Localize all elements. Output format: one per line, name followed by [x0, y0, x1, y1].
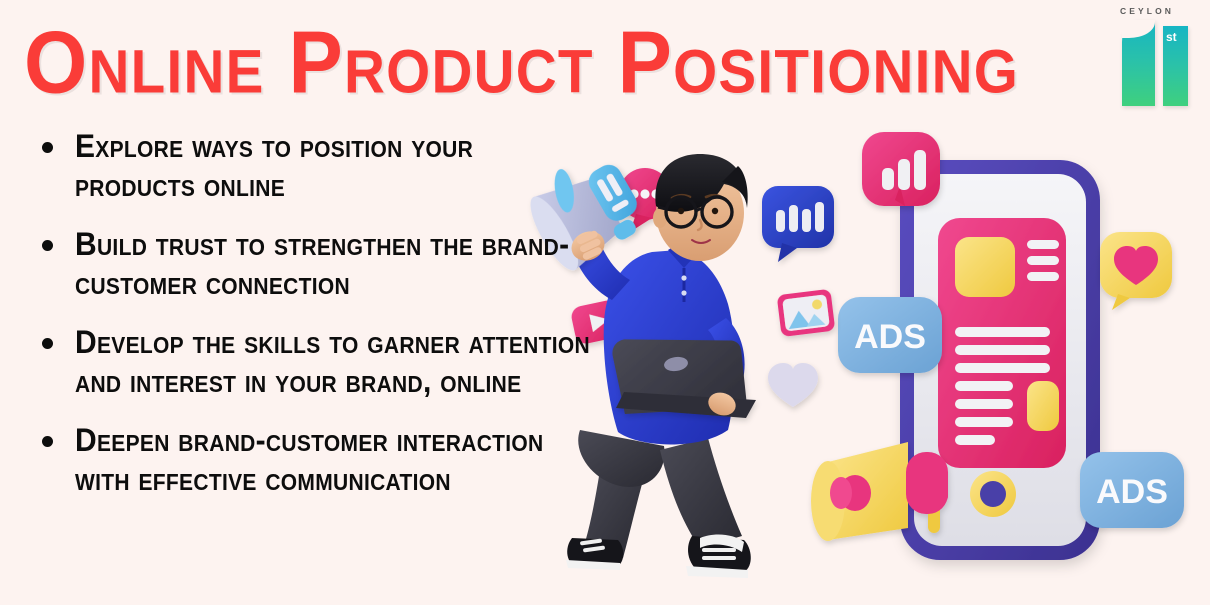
ads-badge-left-label: ADS [854, 318, 926, 356]
bar-chart-bubble-blue [762, 186, 834, 262]
heart-bubble-yellow [1100, 232, 1172, 310]
slide-canvas: ADS ADS [0, 0, 1210, 605]
bullet-dot-icon [42, 240, 53, 251]
logo-ordinal: st [1166, 30, 1177, 44]
bar-chart-bubble-pink [862, 132, 940, 206]
ads-badge-right-label: ADS [1096, 473, 1168, 511]
bullet-text: Develop the skills to garner attention a… [75, 324, 590, 402]
photo-icon [777, 289, 836, 337]
shoe-right [686, 535, 751, 578]
page-title: Online Product Positioning [24, 14, 1019, 110]
bullet-text: Deepen brand-customer interaction with e… [75, 422, 590, 500]
glasses-icon [658, 197, 732, 227]
list-item: Deepen brand-customer interaction with e… [42, 422, 590, 494]
logo-wordmark: CEYLON [1120, 6, 1174, 16]
bullet-dot-icon [42, 338, 53, 349]
ads-badge-right: ADS [1080, 452, 1184, 528]
bullet-list: Explore ways to position your products o… [42, 128, 590, 520]
shoe-left [566, 538, 623, 570]
bullet-dot-icon [42, 436, 53, 447]
bullet-text: Build trust to strengthen the brand-cust… [75, 226, 590, 304]
list-item: Develop the skills to garner attention a… [42, 324, 590, 396]
ads-badge-left: ADS [838, 297, 942, 373]
bullet-text: Explore ways to position your products o… [75, 128, 590, 206]
laptop [611, 324, 756, 425]
list-item: Explore ways to position your products o… [42, 128, 590, 200]
logo-numeral-1 [1122, 20, 1155, 106]
ceylon-1st-logo[interactable]: CEYLON st [1106, 4, 1202, 108]
smartphone-mockup [900, 160, 1100, 560]
megaphone-yellow-icon [811, 442, 948, 541]
list-item: Build trust to strengthen the brand-cust… [42, 226, 590, 298]
bullet-dot-icon [42, 142, 53, 153]
chat-dots-icon [619, 168, 671, 232]
heart-icon [768, 363, 818, 407]
